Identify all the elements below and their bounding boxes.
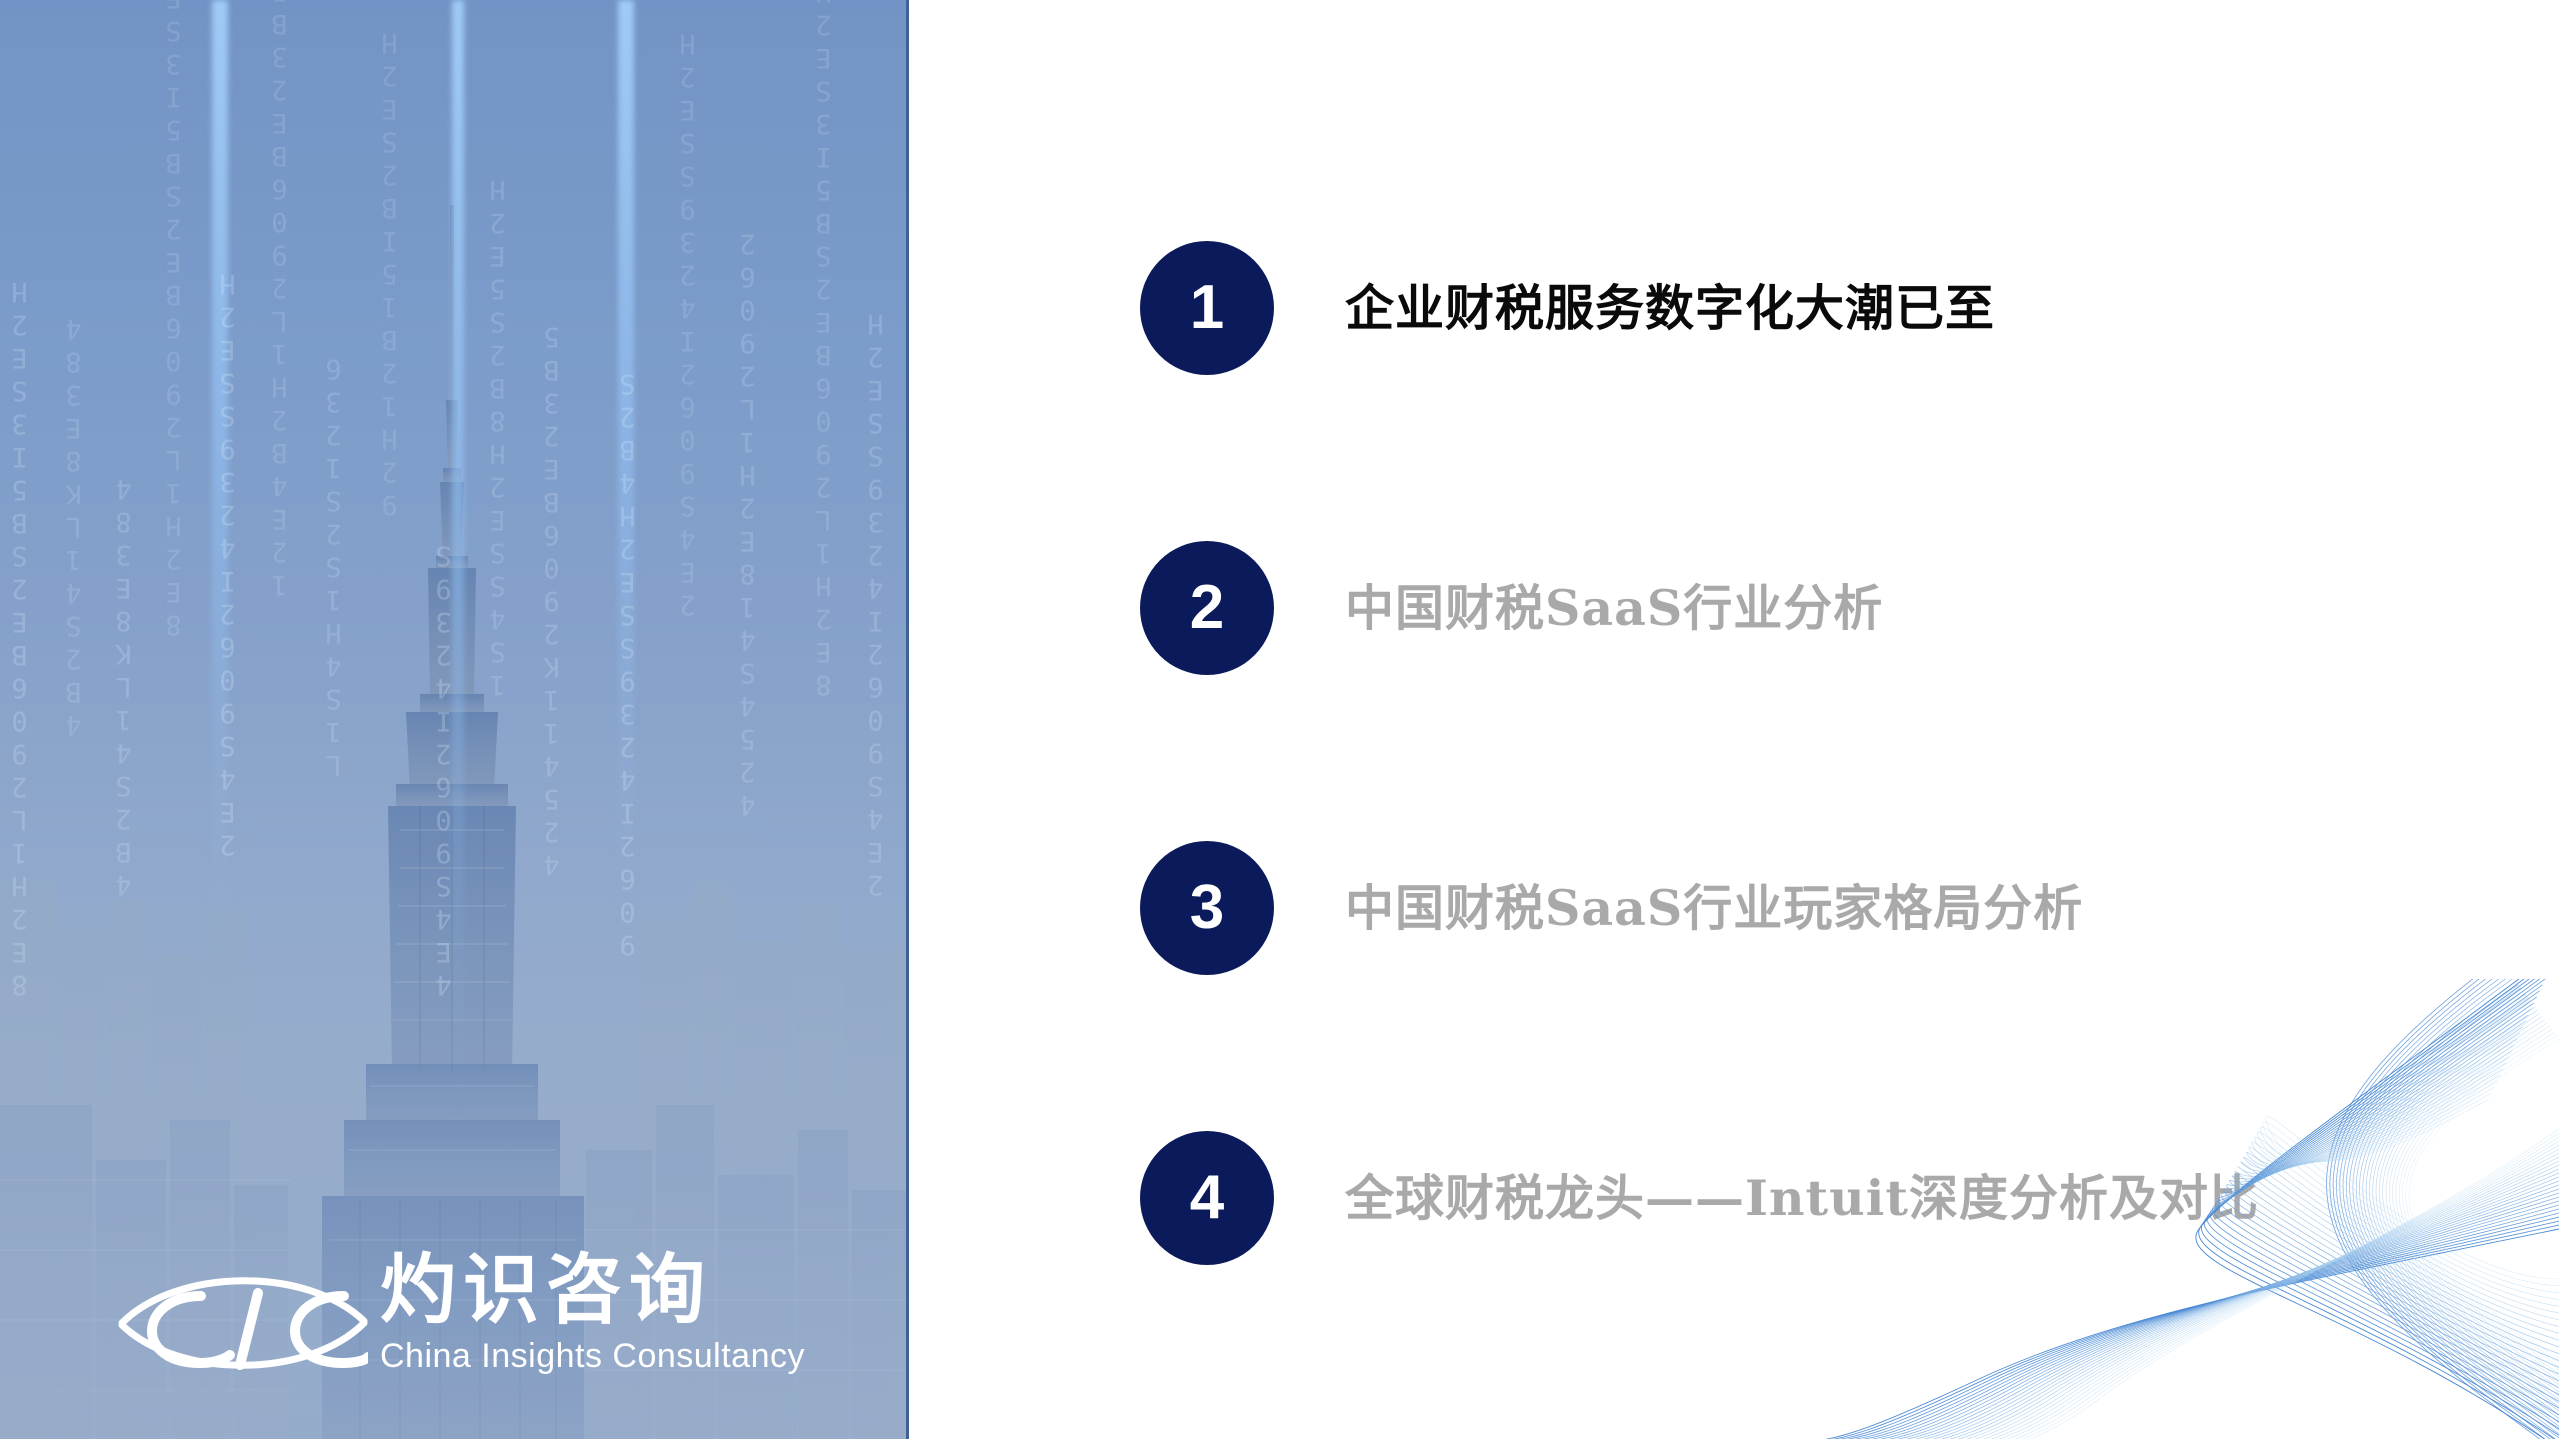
data-rain-column: 8E2H1L2906BE2SB5I3SE2H bbox=[812, 0, 837, 700]
data-rain-column: 2E4S9062I4239SSE2H bbox=[216, 0, 241, 860]
agenda-item-label-2: 中国财税SaaS行业分析 bbox=[1345, 580, 1883, 636]
agenda-item-label-3: 中国财税SaaS行业玩家格局分析 bbox=[1345, 880, 2083, 936]
data-rain-column: 92H12B15IB2SE2H bbox=[378, 0, 403, 520]
data-rain-column: 9062I4239SSE2H4B2S bbox=[616, 0, 641, 960]
data-rain-column: 8E2H1L2906BE2SB5I3SE2H bbox=[162, 0, 187, 640]
data-rain-column: 4254S418E2H1L29062 bbox=[736, 0, 761, 820]
agenda-number-badge-1: 1 bbox=[1140, 241, 1274, 375]
slide-root: 8E2H1L2906BE2SB5I3SE2H 4B2S41LK8E384 4B2… bbox=[0, 0, 2559, 1439]
cover-image-panel: 8E2H1L2906BE2SB5I3SE2H 4B2S41LK8E384 4B2… bbox=[0, 0, 909, 1439]
agenda-item-1[interactable]: 1 企业财税服务数字化大潮已至 bbox=[1140, 240, 1995, 376]
data-rain-column: 425411K2906BE23B5 bbox=[540, 0, 565, 880]
agenda-item-3[interactable]: 3 中国财税SaaS行业玩家格局分析 bbox=[1140, 840, 2083, 976]
data-rain-column: 12E4B2H1L2906BE23B5I1 bbox=[268, 0, 293, 600]
cic-chinese-name: 灼识咨询 bbox=[380, 1247, 760, 1335]
cic-wordmark: 灼识咨询 China Insights Consultancy bbox=[380, 1247, 760, 1377]
data-rain-column: 4B2S41LK8E384 bbox=[62, 0, 87, 740]
data-rain-column: 4B2S41LK8E384 bbox=[112, 0, 137, 900]
agenda-item-label-4: 全球财税龙头——Intuit深度分析及对比 bbox=[1345, 1170, 2259, 1226]
data-rain-column: 1S4SSE2H8B2S5E2H bbox=[486, 0, 511, 700]
cic-english-name: China Insights Consultancy bbox=[380, 1335, 760, 1377]
agenda-item-4[interactable]: 4 全球财税龙头——Intuit深度分析及对比 bbox=[1140, 1130, 2259, 1266]
agenda-number-badge-2: 2 bbox=[1140, 541, 1274, 675]
agenda-number-badge-3: 3 bbox=[1140, 841, 1274, 975]
agenda-item-2[interactable]: 2 中国财税SaaS行业分析 bbox=[1140, 540, 1883, 676]
data-rain-column: 2E4S9062I4239SSE2H bbox=[676, 0, 701, 620]
cic-eye-mark-icon bbox=[118, 1253, 368, 1393]
data-rain-column: L1S4H1S2S1236 bbox=[322, 0, 347, 780]
data-rain-column: 8E2H1L2906BE2SB5I3SE2H bbox=[8, 0, 33, 1000]
agenda-list: 1 企业财税服务数字化大潮已至 2 中国财税SaaS行业分析 3 中国财税Saa… bbox=[1140, 0, 2500, 1439]
data-rain-column: 2E4S9062I4239SSE2H bbox=[864, 0, 889, 900]
agenda-number-badge-4: 4 bbox=[1140, 1131, 1274, 1265]
data-rain-column: 4E4S9062I4239S bbox=[432, 0, 457, 1000]
cic-logo: 灼识咨询 China Insights Consultancy bbox=[118, 1247, 758, 1397]
agenda-item-label-1: 企业财税服务数字化大潮已至 bbox=[1345, 280, 1995, 336]
